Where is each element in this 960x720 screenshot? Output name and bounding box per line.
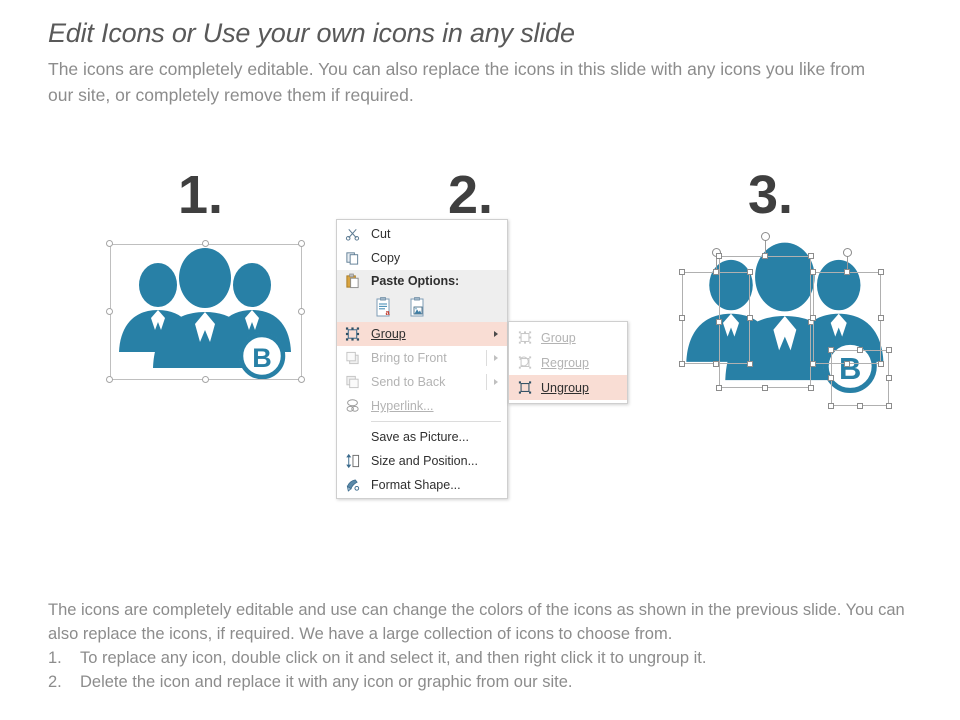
menu-item-cut-label: Cut — [371, 227, 390, 241]
menu-item-save-as-picture-label: Save as Picture... — [371, 430, 469, 444]
list-item-text: Delete the icon and replace it with any … — [80, 670, 573, 694]
menu-item-format-shape[interactable]: Format Shape... — [337, 473, 507, 497]
size-position-icon — [344, 453, 361, 470]
subhandle-center-se[interactable] — [808, 385, 814, 391]
list-item-number: 2. — [48, 670, 70, 694]
submenu-item-ungroup-label: Ungroup — [541, 381, 589, 395]
step-number-2: 2. — [448, 168, 493, 222]
menu-item-copy-label: Copy — [371, 251, 400, 265]
resize-handle-s[interactable] — [202, 376, 209, 383]
resize-handle-nw[interactable] — [106, 240, 113, 247]
selection-frame — [110, 244, 302, 380]
menu-item-save-as-picture[interactable]: Save as Picture... — [337, 425, 507, 449]
resize-handle-sw[interactable] — [106, 376, 113, 383]
menu-item-group[interactable]: Group — [337, 322, 507, 346]
list-item: 1. To replace any icon, double click on … — [48, 646, 938, 670]
subselection-center-person[interactable] — [719, 256, 811, 388]
submenu-item-group-label: Group — [541, 331, 576, 345]
svg-text:a: a — [386, 308, 391, 317]
scissors-icon — [344, 226, 361, 243]
regroup-icon — [516, 354, 533, 371]
send-to-back-icon — [344, 374, 361, 391]
subhandle-center-s[interactable] — [762, 385, 768, 391]
context-menu[interactable]: Cut Copy Paste Options: — [336, 219, 508, 499]
subhandle-badge-s[interactable] — [857, 403, 863, 409]
rotate-handle-center[interactable] — [761, 232, 770, 241]
step1-icon-container[interactable]: B — [110, 244, 302, 380]
subhandle-badge-n[interactable] — [857, 347, 863, 353]
menu-item-paste-options: Paste Options: — [337, 270, 507, 292]
list-item-text: To replace any icon, double click on it … — [80, 646, 706, 670]
resize-handle-se[interactable] — [298, 376, 305, 383]
page-subtitle: The icons are completely editable. You c… — [48, 56, 878, 108]
subhandle-center-w[interactable] — [716, 319, 722, 325]
paste-options-label: Paste Options: — [371, 274, 459, 288]
subhandle-right-nw[interactable] — [810, 269, 816, 275]
subhandle-center-nw[interactable] — [716, 253, 722, 259]
subhandle-badge-w[interactable] — [828, 375, 834, 381]
menu-item-size-and-position-label: Size and Position... — [371, 454, 478, 468]
subhandle-center-ne[interactable] — [808, 253, 814, 259]
resize-handle-e[interactable] — [298, 308, 305, 315]
group-submenu[interactable]: Group Regroup Ungroup — [508, 321, 628, 404]
footer-list: 1. To replace any icon, double click on … — [48, 646, 938, 694]
picture-paste-icon[interactable] — [405, 295, 429, 319]
resize-handle-n[interactable] — [202, 240, 209, 247]
step-number-1: 1. — [178, 168, 223, 222]
page-title: Edit Icons or Use your own icons in any … — [48, 18, 575, 49]
submenu-item-group[interactable]: Group — [509, 325, 627, 350]
menu-divider — [486, 374, 487, 390]
subhandle-right-sw[interactable] — [810, 361, 816, 367]
menu-item-bring-to-front-label: Bring to Front — [371, 351, 447, 365]
subhandle-left-sw[interactable] — [679, 361, 685, 367]
footer-paragraph: The icons are completely editable and us… — [48, 598, 938, 646]
step-number-3: 3. — [748, 168, 793, 222]
subhandle-badge-se[interactable] — [886, 403, 892, 409]
group-icon — [516, 329, 533, 346]
ungroup-icon — [516, 379, 533, 396]
subhandle-right-ne[interactable] — [878, 269, 884, 275]
subhandle-center-n[interactable] — [762, 253, 768, 259]
menu-item-hyperlink[interactable]: Hyperlink... — [337, 394, 507, 418]
menu-item-size-and-position[interactable]: Size and Position... — [337, 449, 507, 473]
chevron-right-icon — [494, 379, 498, 385]
list-item: 2. Delete the icon and replace it with a… — [48, 670, 938, 694]
paste-icon — [344, 273, 361, 290]
hyperlink-icon — [344, 398, 361, 415]
paste-options-row[interactable]: a — [337, 292, 507, 322]
group-icon — [344, 326, 361, 343]
menu-item-format-shape-label: Format Shape... — [371, 478, 461, 492]
subhandle-badge-sw[interactable] — [828, 403, 834, 409]
subhandle-center-sw[interactable] — [716, 385, 722, 391]
menu-item-group-label: Group — [371, 327, 406, 341]
list-item-number: 1. — [48, 646, 70, 670]
subhandle-left-nw[interactable] — [679, 269, 685, 275]
subhandle-badge-ne[interactable] — [886, 347, 892, 353]
menu-item-hyperlink-label: Hyperlink... — [371, 399, 434, 413]
menu-divider — [486, 350, 487, 366]
resize-handle-ne[interactable] — [298, 240, 305, 247]
use-destination-theme-icon[interactable]: a — [371, 295, 395, 319]
footer-block: The icons are completely editable and us… — [48, 598, 938, 694]
subhandle-right-w[interactable] — [810, 315, 816, 321]
subhandle-badge-e[interactable] — [886, 375, 892, 381]
menu-item-bring-to-front[interactable]: Bring to Front — [337, 346, 507, 370]
step3-icon-container[interactable]: B — [676, 232, 896, 408]
subhandle-left-w[interactable] — [679, 315, 685, 321]
menu-separator — [371, 421, 501, 422]
chevron-right-icon — [494, 331, 498, 337]
format-shape-icon — [344, 477, 361, 494]
menu-item-cut[interactable]: Cut — [337, 222, 507, 246]
resize-handle-w[interactable] — [106, 308, 113, 315]
bring-to-front-icon — [344, 350, 361, 367]
subhandle-right-n[interactable] — [844, 269, 850, 275]
menu-item-send-to-back-label: Send to Back — [371, 375, 445, 389]
rotate-handle-right[interactable] — [843, 248, 852, 257]
subselection-badge[interactable] — [831, 350, 889, 406]
copy-icon — [344, 250, 361, 267]
submenu-item-regroup-label: Regroup — [541, 356, 589, 370]
subhandle-badge-nw[interactable] — [828, 347, 834, 353]
submenu-item-regroup[interactable]: Regroup — [509, 350, 627, 375]
chevron-right-icon — [494, 355, 498, 361]
menu-item-copy[interactable]: Copy — [337, 246, 507, 270]
menu-item-send-to-back[interactable]: Send to Back — [337, 370, 507, 394]
submenu-item-ungroup[interactable]: Ungroup — [509, 375, 627, 400]
subhandle-right-e[interactable] — [878, 315, 884, 321]
